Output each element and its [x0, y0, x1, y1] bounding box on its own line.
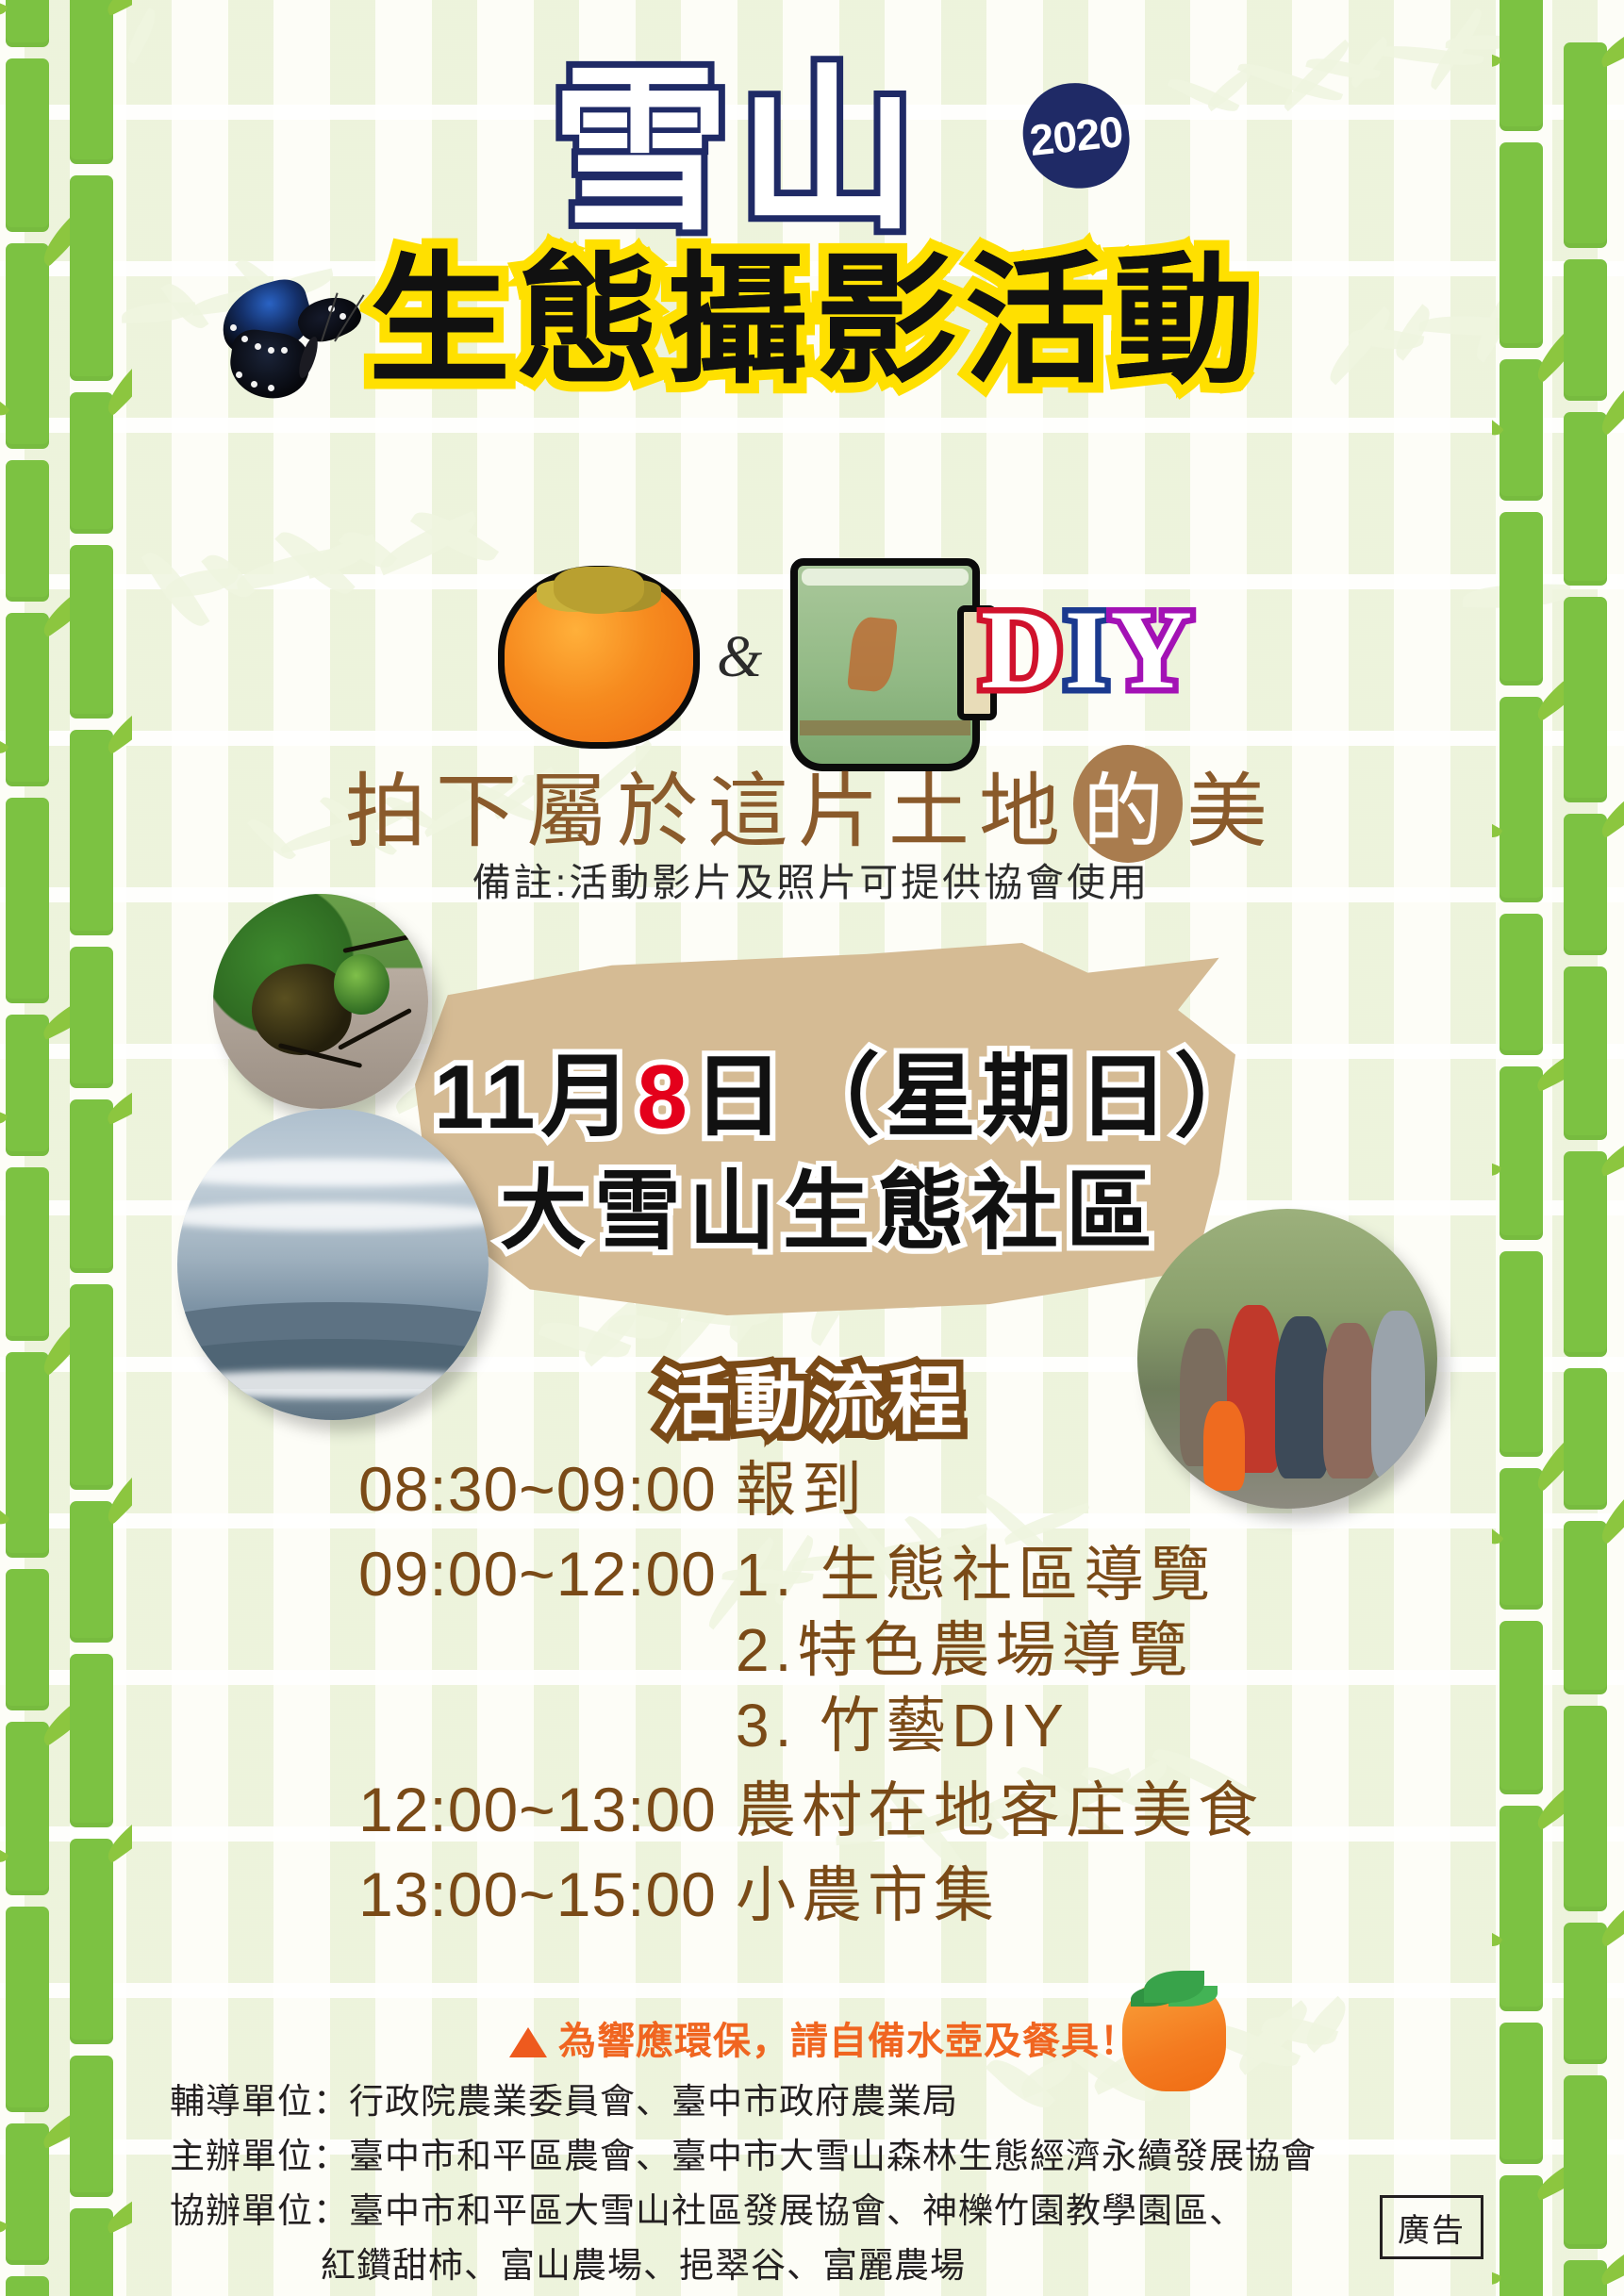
bamboo-segment — [70, 947, 113, 1088]
bamboo-segment — [6, 1569, 49, 1710]
beetle-photo — [213, 894, 428, 1109]
schedule-row: 08:30~09:00報到 — [358, 1452, 1301, 1528]
bamboo-segment — [6, 2276, 49, 2296]
schedule-list: 08:30~09:00報到09:00~12:001. 生態社區導覽2.特色農場導… — [358, 1452, 1301, 1942]
bamboo-segment — [6, 1167, 49, 1341]
diy-wordmark: DIY — [981, 585, 1194, 715]
bamboo-segment — [1500, 1806, 1543, 2011]
poster-tagline: 拍下屬於這片土地的美 — [245, 745, 1377, 863]
date-day: 8 — [637, 1047, 692, 1148]
schedule-item: 小農市集 — [736, 1858, 1000, 1933]
bamboo-segment — [1500, 359, 1543, 501]
bamboo-segment — [1564, 1923, 1607, 2064]
schedule-items: 小農市集 — [736, 1858, 1000, 1933]
date-weekday: 日（星期日） — [693, 1047, 1270, 1148]
advertisement-badge: 廣告 — [1380, 2195, 1483, 2259]
poster-canvas: 雪山 2020 生態攝影活動 生態攝影活動 & DIY 拍下屬於這片土地的美 — [0, 0, 1624, 2296]
bamboo-segment — [1564, 1521, 1607, 1694]
butterfly-icon — [215, 281, 356, 405]
diy-letter-y: Y — [1110, 586, 1194, 712]
schedule-item: 3. 竹藝DIY — [736, 1688, 1216, 1763]
schedule-items: 1. 生態社區導覽2.特色農場導覽3. 竹藝DIY — [736, 1537, 1216, 1763]
schedule-row: 09:00~12:001. 生態社區導覽2.特色農場導覽3. 竹藝DIY — [358, 1537, 1301, 1763]
bamboo-segment — [6, 2123, 49, 2265]
credit-line: 協辦單位：臺中市和平區大雪山社區發展協會、神櫟竹園教學園區、 — [170, 2184, 1452, 2238]
schedule-time: 09:00~12:00 — [358, 1537, 736, 1611]
bamboo-segment — [70, 2056, 113, 2197]
bamboo-segment — [1500, 0, 1543, 131]
bamboo-segment — [70, 175, 113, 381]
schedule-row: 12:00~13:00農村在地客庄美食 — [358, 1773, 1301, 1848]
bamboo-segment — [70, 1099, 113, 1273]
bamboo-segment — [1564, 2075, 1607, 2249]
schedule-items: 報到 — [736, 1452, 868, 1528]
bamboo-segment — [1564, 597, 1607, 802]
bamboo-segment — [70, 730, 113, 935]
bamboo-cup-photo — [790, 558, 980, 771]
bamboo-stalk — [6, 0, 49, 2296]
bamboo-segment — [1564, 1151, 1607, 1357]
bamboo-segment — [1500, 1468, 1543, 1610]
bamboo-segment — [70, 392, 113, 534]
bamboo-segment — [1564, 42, 1607, 248]
schedule-item: 農村在地客庄美食 — [736, 1773, 1264, 1848]
credit-line: 主辦單位：臺中市和平區農會、臺中市大雪山森林生態經濟永續發展協會 — [170, 2129, 1452, 2184]
bamboo-segment — [70, 1839, 113, 2044]
bamboo-segment — [1500, 697, 1543, 902]
tagline-part-2: 美 — [1186, 767, 1277, 857]
organiser-credits: 輔導單位：行政院農業委員會、臺中市政府農業局主辦單位：臺中市和平區農會、臺中市大… — [170, 2074, 1452, 2293]
diy-letter-i: I — [1065, 586, 1111, 712]
persimmon-photo — [498, 566, 700, 749]
date-month: 11月 — [434, 1047, 637, 1148]
schedule-time: 08:30~09:00 — [358, 1452, 736, 1526]
bamboo-segment — [6, 58, 49, 232]
bamboo-border-left — [0, 0, 132, 2296]
bamboo-segment — [70, 0, 113, 164]
credit-line: 輔導單位：行政院農業委員會、臺中市政府農業局 — [170, 2074, 1452, 2129]
schedule-heading: 活動流程 — [528, 1343, 1094, 1448]
bamboo-border-right — [1492, 0, 1624, 2296]
schedule-row: 13:00~15:00小農市集 — [358, 1858, 1301, 1933]
tagline-part-1: 拍下屬於這片土地 — [345, 767, 1069, 857]
bamboo-segment — [70, 2208, 113, 2296]
event-location: 大雪山生態社區 — [434, 1141, 1226, 1266]
schedule-items: 農村在地客庄美食 — [736, 1773, 1264, 1848]
schedule-item: 1. 生態社區導覽 — [736, 1537, 1216, 1612]
bamboo-segment — [1564, 1368, 1607, 1510]
bamboo-segment — [6, 460, 49, 602]
diy-letter-d: D — [981, 586, 1065, 712]
bamboo-segment — [6, 1722, 49, 1895]
ampersand-label: & — [717, 624, 762, 691]
bamboo-segment — [1564, 259, 1607, 401]
bamboo-segment — [1564, 966, 1607, 1140]
bamboo-segment — [1564, 814, 1607, 955]
bamboo-segment — [70, 1284, 113, 1490]
bamboo-segment — [6, 613, 49, 786]
tagline-emphasis: 的 — [1073, 745, 1183, 863]
bamboo-segment — [1500, 512, 1543, 685]
bamboo-segment — [1500, 1066, 1543, 1240]
bamboo-segment — [70, 545, 113, 719]
bamboo-stalk — [1500, 0, 1543, 2296]
usage-note: 備註:活動影片及照片可提供協會使用 — [245, 851, 1377, 907]
bamboo-stalk — [1564, 0, 1607, 2296]
bamboo-segment — [70, 1654, 113, 1827]
schedule-time: 12:00~13:00 — [358, 1773, 736, 1846]
eco-warning-text: 為響應環保，請自備水壺及餐具！ — [558, 2021, 1138, 2062]
bamboo-segment — [1500, 142, 1543, 348]
warning-triangle-icon — [509, 2027, 547, 2057]
bamboo-segment — [1564, 412, 1607, 586]
bamboo-segment — [1500, 1621, 1543, 1794]
bamboo-segment — [6, 1015, 49, 1156]
schedule-item: 2.特色農場導覽 — [736, 1612, 1216, 1688]
schedule-item: 報到 — [736, 1452, 868, 1528]
credit-line: 紅鑽甜柿、富山農場、挹翠谷、富麗農場 — [170, 2238, 1452, 2293]
bamboo-segment — [6, 243, 49, 449]
poster-title-top: 雪山 — [552, 52, 995, 269]
schedule-time: 13:00~15:00 — [358, 1858, 736, 1931]
poster-title-main: 生態攝影活動 — [189, 245, 1443, 396]
bamboo-segment — [6, 1352, 49, 1558]
bamboo-segment — [6, 0, 49, 47]
bamboo-segment — [1500, 914, 1543, 1055]
bamboo-stalk — [70, 0, 113, 2296]
event-date: 11月8日（星期日） — [434, 1023, 1226, 1154]
bamboo-segment — [6, 1907, 49, 2112]
bamboo-segment — [1564, 1706, 1607, 1911]
bamboo-segment — [1500, 1251, 1543, 1457]
bamboo-segment — [1500, 2023, 1543, 2164]
bamboo-segment — [70, 1501, 113, 1643]
bamboo-segment — [6, 798, 49, 1003]
